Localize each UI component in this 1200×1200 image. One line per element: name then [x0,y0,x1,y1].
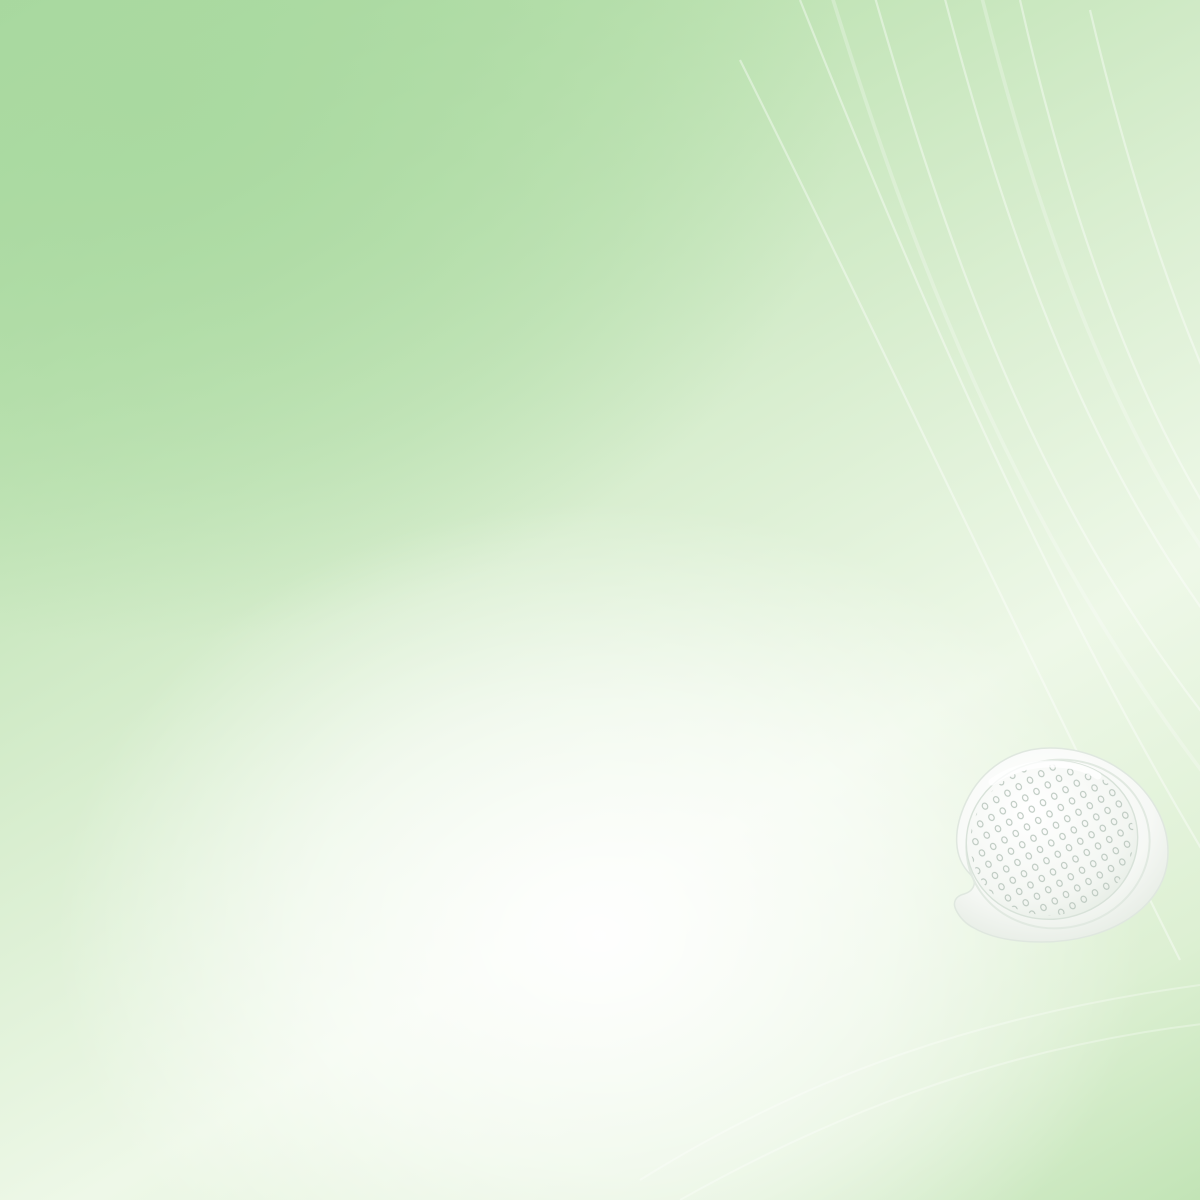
product-tray [930,740,1180,950]
page-title-wrap [0,8,1200,26]
background-leaf-veins [0,0,1200,1200]
watermark-layer [0,0,1200,1200]
infographic-canvas [0,0,1200,1200]
